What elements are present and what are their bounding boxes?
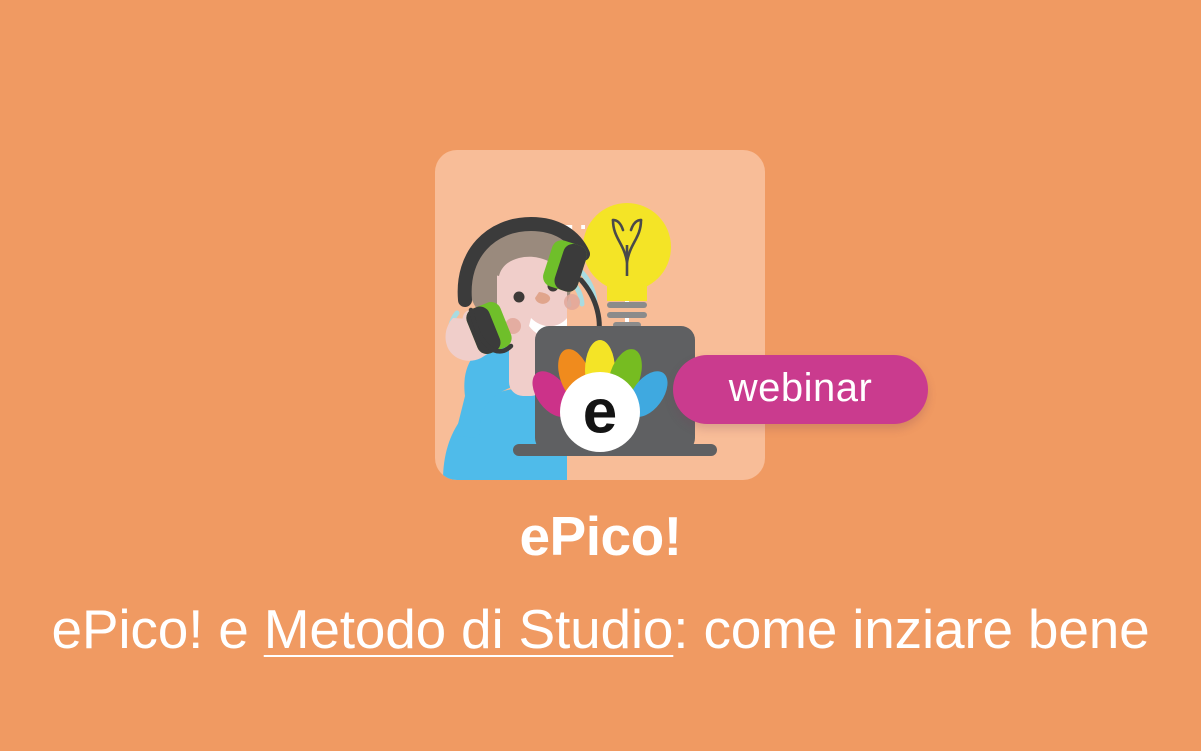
subtitle-suffix: : come inziare bene: [673, 598, 1149, 660]
illustration-card: e: [435, 150, 765, 480]
promo-slide: e webinar ePico! ePico! e Metodo di Stud…: [0, 0, 1201, 751]
webinar-illustration: e: [435, 150, 765, 480]
subtitle-highlight: Metodo di Studio: [264, 598, 674, 660]
brand-title: ePico!: [0, 503, 1201, 569]
session-subtitle: ePico! e Metodo di Studio: come inziare …: [0, 596, 1201, 662]
webinar-badge: webinar: [673, 355, 928, 424]
epico-logo-letter: e: [583, 378, 617, 447]
webinar-badge-label: webinar: [729, 368, 873, 411]
subtitle-prefix: ePico! e: [52, 598, 264, 660]
